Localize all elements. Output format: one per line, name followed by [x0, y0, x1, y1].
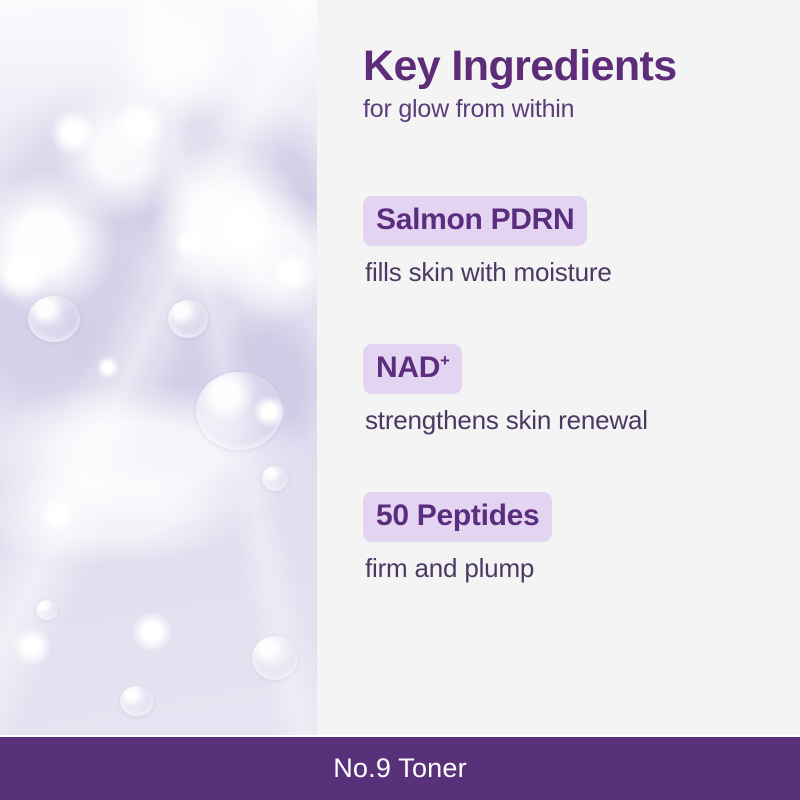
gel-top-haze [0, 0, 317, 735]
product-name-banner: No.9 Toner [0, 737, 800, 800]
product-infographic: Key Ingredients for glow from within Sal… [0, 0, 800, 800]
ingredient-item: 50 Peptides firm and plump [363, 492, 793, 584]
content-panel: Key Ingredients for glow from within Sal… [317, 0, 800, 735]
ingredient-description: fills skin with moisture [365, 257, 793, 288]
ingredient-description: strengthens skin renewal [365, 405, 793, 436]
page-subtitle: for glow from within [363, 95, 783, 124]
gel-texture-image [0, 0, 317, 735]
product-name-text: No.9 Toner [333, 753, 467, 784]
ingredient-name-badge: Salmon PDRN [363, 196, 587, 246]
ingredient-name-text: NAD [376, 351, 440, 384]
ingredient-name-badge: 50 Peptides [363, 492, 552, 542]
ingredient-name-badge: NAD+ [363, 344, 462, 394]
ingredient-name-superscript: + [440, 352, 449, 370]
ingredient-name-text: Salmon PDRN [376, 203, 574, 236]
headline-block: Key Ingredients for glow from within [363, 44, 783, 123]
page-title: Key Ingredients [363, 44, 783, 89]
ingredient-list: Salmon PDRN fills skin with moisture NAD… [363, 196, 793, 585]
ingredient-description: firm and plump [365, 553, 793, 584]
ingredient-name-text: 50 Peptides [376, 499, 539, 532]
ingredient-item: Salmon PDRN fills skin with moisture [363, 196, 793, 288]
ingredient-item: NAD+ strengthens skin renewal [363, 344, 793, 436]
